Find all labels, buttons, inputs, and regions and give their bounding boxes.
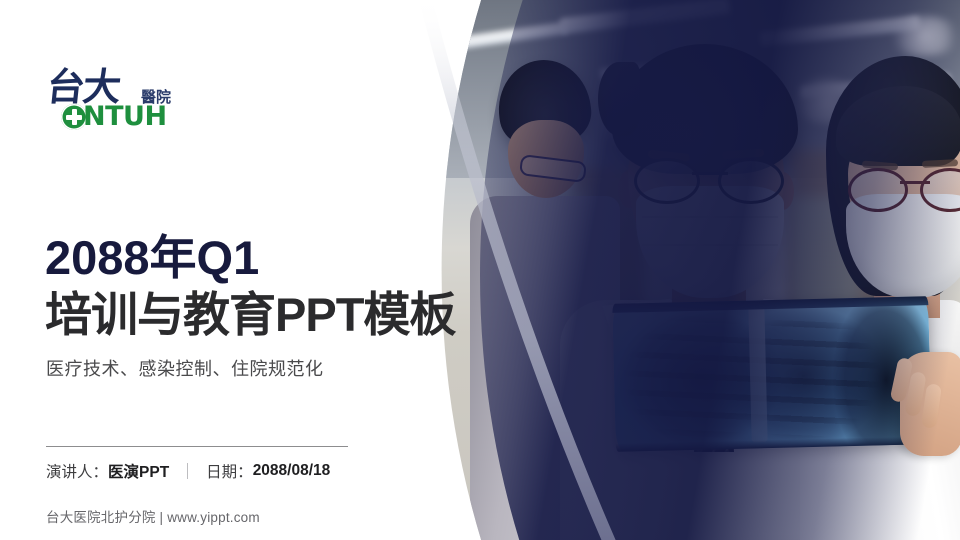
meta-separator (187, 463, 188, 479)
xray-ribcage (612, 296, 932, 452)
logo-latin-text: NTUH (83, 103, 167, 130)
date-label: 日期： (206, 460, 253, 482)
xray-image (612, 296, 932, 452)
eyeglass-bridge (692, 172, 728, 175)
chest-xray-film (612, 296, 932, 452)
light-glow (884, 16, 960, 56)
footer-site-line: 台大医院北护分院 | www.yippt.com (46, 506, 260, 526)
presenter-value: 医演PPT (108, 460, 169, 482)
eyeglass-bridge (900, 181, 930, 184)
hospital-logo: 台大 醫院 NTUH (45, 68, 215, 134)
eyeglass-lens (718, 158, 784, 204)
slide-title-line1: 2088年Q1 (45, 234, 259, 281)
xray-spine (748, 306, 767, 443)
slide-title-line2: 培训与教育PPT模板 (45, 291, 455, 338)
female-doctor-eyeglasses (848, 168, 960, 206)
presenter-label: 演讲人： (46, 460, 108, 482)
slide-subtitle: 医疗技术、感染控制、住院规范化 (46, 355, 324, 381)
date-value: 2088/08/18 (253, 462, 331, 480)
footer-divider (46, 446, 348, 447)
hand-holding-xray (900, 352, 960, 456)
male-doctor-eyeglasses (634, 158, 784, 198)
eyeglass-lens (634, 158, 700, 204)
finger (921, 383, 942, 429)
eyeglass-lens (920, 168, 960, 212)
eyeglass-lens (848, 168, 908, 212)
presentation-slide: 台大 醫院 NTUH 2088年Q1 培训与教育PPT模板 医疗技术、感染控制、… (0, 0, 960, 540)
footer-meta: 演讲人： 医演PPT 日期： 2088/08/18 (46, 460, 330, 482)
slide-content: 台大 醫院 NTUH 2088年Q1 培训与教育PPT模板 医疗技术、感染控制、… (0, 0, 430, 540)
